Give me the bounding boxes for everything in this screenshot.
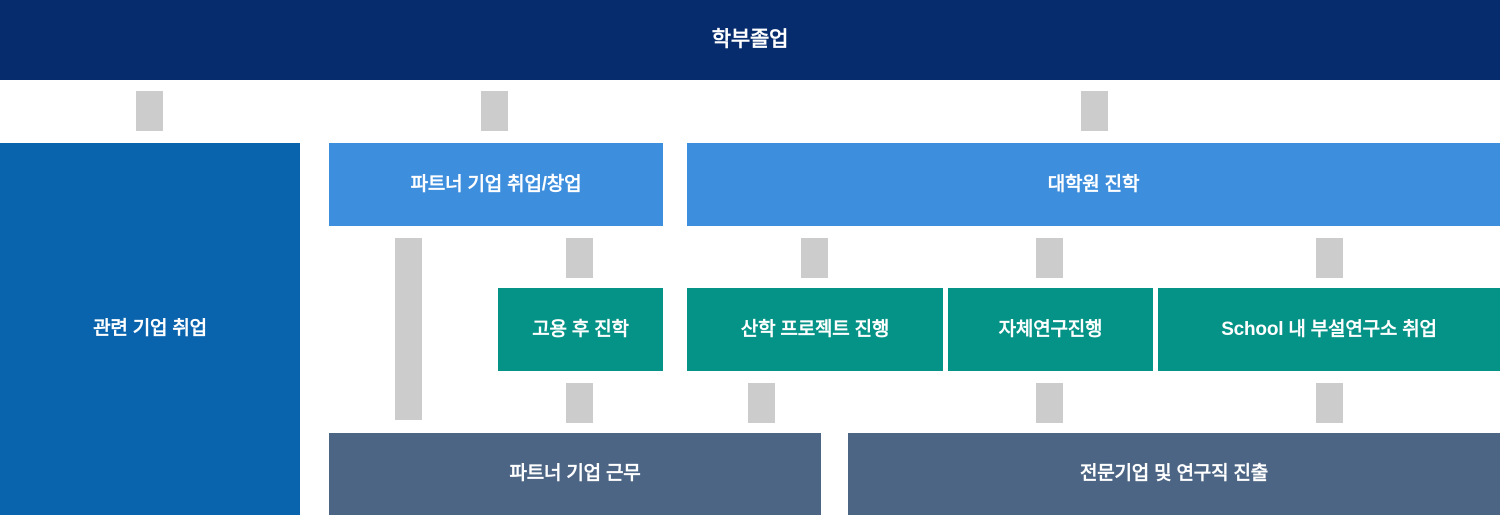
connector-graduate-school-to-independent-research — [1036, 238, 1063, 278]
connector-graduate-school-to-industry-academic-project — [801, 238, 828, 278]
node-partner-company-employment-startup-label: 파트너 기업 취업/창업 — [411, 173, 582, 197]
connector-partner-company-to-partner-work-bypass — [395, 238, 422, 420]
connector-independent-research-to-professional-career — [1036, 383, 1063, 423]
node-industry-academic-project-label: 산학 프로젝트 진행 — [741, 318, 889, 342]
node-school-affiliated-institute-employment-label: School 내 부설연구소 취업 — [1221, 318, 1437, 342]
node-industry-academic-project: 산학 프로젝트 진행 — [687, 288, 943, 371]
career-path-diagram: 학부졸업 관련 기업 취업 파트너 기업 취업/창업 대학원 진학 고용 후 진… — [0, 0, 1500, 515]
connector-header-to-partner-company — [481, 91, 508, 131]
node-professional-company-research-career-label: 전문기업 및 연구직 진출 — [1080, 462, 1268, 486]
connector-partner-company-to-study-after-employment — [566, 238, 593, 278]
node-school-affiliated-institute-employment: School 내 부설연구소 취업 — [1158, 288, 1500, 371]
connector-industry-academic-project-to-professional-career — [748, 383, 775, 423]
connector-header-to-graduate-school — [1081, 91, 1108, 131]
connector-graduate-school-to-school-affiliated-institute — [1316, 238, 1343, 278]
node-header-label: 학부졸업 — [712, 27, 788, 53]
node-independent-research: 자체연구진행 — [948, 288, 1153, 371]
node-related-company-employment: 관련 기업 취업 — [0, 143, 300, 515]
node-related-company-employment-label: 관련 기업 취업 — [93, 317, 207, 341]
node-header-undergraduate-graduation: 학부졸업 — [0, 0, 1500, 80]
connector-school-affiliated-institute-to-professional-career — [1316, 383, 1343, 423]
node-graduate-school-admission: 대학원 진학 — [687, 143, 1500, 226]
node-graduate-school-admission-label: 대학원 진학 — [1048, 173, 1139, 197]
connector-study-after-employment-to-partner-work — [566, 383, 593, 423]
node-professional-company-research-career: 전문기업 및 연구직 진출 — [848, 433, 1500, 515]
node-partner-company-work: 파트너 기업 근무 — [329, 433, 821, 515]
connector-header-to-related-company — [136, 91, 163, 131]
node-study-after-employment: 고용 후 진학 — [498, 288, 663, 371]
node-partner-company-employment-startup: 파트너 기업 취업/창업 — [329, 143, 663, 226]
node-study-after-employment-label: 고용 후 진학 — [532, 318, 629, 342]
node-independent-research-label: 자체연구진행 — [999, 318, 1103, 342]
node-partner-company-work-label: 파트너 기업 근무 — [509, 462, 640, 486]
